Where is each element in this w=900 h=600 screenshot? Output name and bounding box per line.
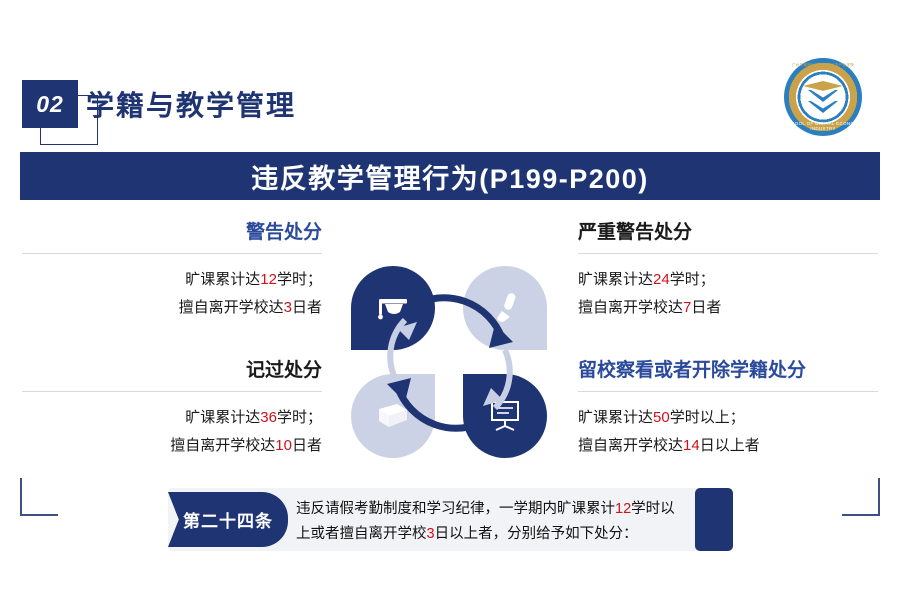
section-number-badge: 02 — [22, 80, 78, 128]
line-suffix: 日以上者 — [700, 437, 760, 454]
note-line1-prefix: 违反请假考勤制度和学习纪律，一学期内旷课累计 — [296, 501, 615, 517]
article-note: 第二十四条 违反请假考勤制度和学习纪律，一学期内旷课累计12学时以上或者擅自离开… — [168, 488, 733, 551]
note-line2-number: 3 — [427, 526, 435, 542]
clockwise-arrow-dark-path — [413, 298, 502, 338]
corner-bracket-bottom-right — [842, 478, 880, 516]
quadrant-probation-expulsion: 留校察看或者开除学籍处分 旷课累计达50学时以上； 擅自离开学校达14日以上者 — [578, 360, 878, 461]
page-title: 学籍与教学管理 — [86, 84, 296, 124]
cycle-arrows — [345, 258, 555, 468]
corner-bracket-horizontal — [842, 514, 880, 516]
note-line2-suffix: 日以上者，分别给予如下处分： — [435, 526, 638, 542]
quadrant-line: 擅自离开学校达3日者 — [22, 294, 322, 323]
article-badge: 第二十四条 — [168, 492, 288, 547]
quadrant-line: 擅自离开学校达7日者 — [578, 294, 878, 323]
clockwise-arrow-dark-bottom-path — [398, 388, 487, 428]
quadrant-divider — [22, 253, 322, 254]
line-number: 14 — [683, 437, 700, 454]
quadrant-demerit: 记过处分 旷课累计达36学时； 擅自离开学校达10日者 — [22, 360, 322, 461]
line-suffix: 日者 — [292, 299, 322, 316]
line-prefix: 擅自离开学校达 — [578, 299, 683, 316]
logo-emblem-icon — [803, 79, 843, 115]
line-prefix: 旷课累计达 — [185, 409, 260, 426]
quadrant-line: 擅自离开学校达14日以上者 — [578, 432, 878, 461]
quadrant-line: 旷课累计达24学时； — [578, 266, 878, 295]
corner-bracket-bottom-left — [20, 478, 58, 516]
quadrant-heading: 警告处分 — [22, 222, 322, 245]
quadrant-heading: 严重警告处分 — [578, 222, 878, 245]
cycle-diagram — [345, 258, 555, 468]
line-prefix: 旷课累计达 — [185, 271, 260, 288]
slide-header: 02 学籍与教学管理 广州华商职业学院数字经济产业学院 SCHOOL OF DI… — [0, 0, 900, 145]
logo-text-bottom: SCHOOL OF DIGITAL ECONOMY INDUSTRY — [784, 121, 862, 131]
line-suffix: 学时； — [670, 271, 715, 288]
slide-root: 02 学籍与教学管理 广州华商职业学院数字经济产业学院 SCHOOL OF DI… — [0, 0, 900, 600]
line-number: 36 — [260, 409, 277, 426]
line-prefix: 旷课累计达 — [578, 409, 653, 426]
quadrant-serious-warning: 严重警告处分 旷课累计达24学时； 擅自离开学校达7日者 — [578, 222, 878, 323]
logo-chevron-upper-icon — [808, 90, 838, 102]
section-title-bar: 违反教学管理行为(P199-P200) — [20, 152, 880, 200]
note-line2-prefix: 或者擅自离开学校 — [311, 526, 427, 542]
line-suffix: 日者 — [691, 299, 721, 316]
article-note-text: 违反请假考勤制度和学习纪律，一学期内旷课累计12学时以上或者擅自离开学校3日以上… — [296, 497, 676, 546]
logo-text-top: 广州华商职业学院数字经济产业学院 — [784, 63, 862, 68]
line-number: 12 — [260, 271, 277, 288]
quadrant-line: 擅自离开学校达10日者 — [22, 432, 322, 461]
line-number: 3 — [284, 299, 292, 316]
section-title-bar-text: 违反教学管理行为(P199-P200) — [251, 157, 649, 196]
corner-bracket-horizontal — [20, 514, 58, 516]
line-prefix: 擅自离开学校达 — [578, 437, 683, 454]
quadrant-divider — [578, 391, 878, 392]
quadrant-heading: 记过处分 — [22, 360, 322, 383]
line-number: 50 — [653, 409, 670, 426]
quadrant-warning: 警告处分 旷课累计达12学时； 擅自离开学校达3日者 — [22, 222, 322, 323]
note-line1-number: 12 — [615, 501, 631, 517]
school-emblem-logo: 广州华商职业学院数字经济产业学院 SCHOOL OF DIGITAL ECONO… — [784, 58, 862, 136]
line-number: 10 — [275, 437, 292, 454]
corner-bracket-vertical — [20, 478, 22, 516]
line-suffix: 学时； — [277, 409, 322, 426]
note-right-cap — [695, 488, 733, 551]
line-number: 24 — [653, 271, 670, 288]
line-suffix: 学时； — [277, 271, 322, 288]
line-prefix: 擅自离开学校达 — [179, 299, 284, 316]
line-prefix: 旷课累计达 — [578, 271, 653, 288]
quadrant-line: 旷课累计达12学时； — [22, 266, 322, 295]
logo-chevron-lower-icon — [808, 101, 838, 113]
quadrant-line: 旷课累计达36学时； — [22, 404, 322, 433]
quadrant-line: 旷课累计达50学时以上； — [578, 404, 878, 433]
quadrant-divider — [578, 253, 878, 254]
quadrant-heading: 留校察看或者开除学籍处分 — [578, 360, 878, 383]
corner-bracket-vertical — [878, 478, 880, 516]
line-suffix: 日者 — [292, 437, 322, 454]
line-suffix: 学时以上； — [670, 409, 745, 426]
line-prefix: 擅自离开学校达 — [170, 437, 275, 454]
quadrant-divider — [22, 391, 322, 392]
